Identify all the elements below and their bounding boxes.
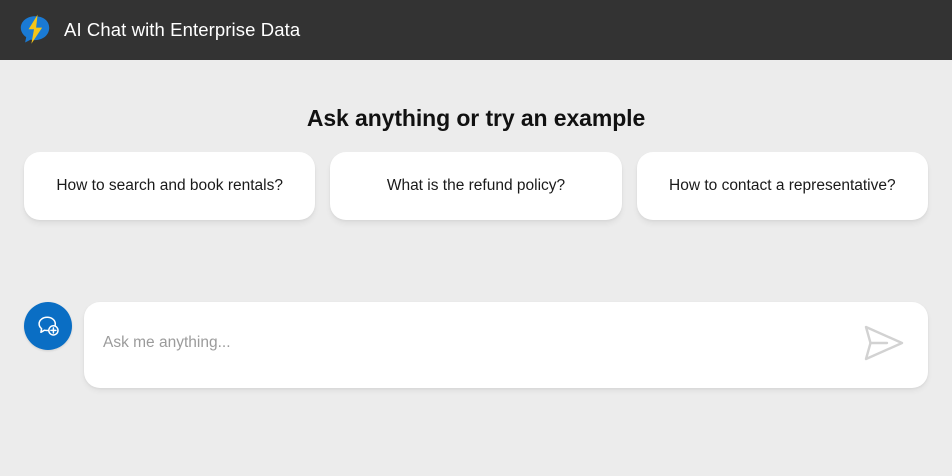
chat-input[interactable]: [84, 302, 928, 362]
main-content: Ask anything or try an example How to se…: [0, 60, 952, 476]
new-chat-button[interactable]: [24, 302, 72, 350]
example-prompt-list: How to search and book rentals? What is …: [24, 152, 928, 220]
app-title: AI Chat with Enterprise Data: [64, 19, 300, 41]
example-prompt-label: What is the refund policy?: [387, 176, 565, 195]
chat-composer: [24, 302, 928, 388]
send-paper-plane-icon: [861, 323, 907, 363]
example-prompt-label: How to contact a representative?: [669, 176, 896, 195]
page-title: Ask anything or try an example: [0, 105, 952, 132]
example-prompt-card[interactable]: How to search and book rentals?: [24, 152, 315, 220]
example-prompt-label: How to search and book rentals?: [56, 176, 283, 195]
new-chat-bubble-plus-icon: [35, 313, 61, 339]
example-prompt-card[interactable]: What is the refund policy?: [330, 152, 621, 220]
chat-bolt-logo-icon: [18, 13, 52, 47]
example-prompt-card[interactable]: How to contact a representative?: [637, 152, 928, 220]
app-header: AI Chat with Enterprise Data: [0, 0, 952, 60]
send-button[interactable]: [860, 322, 908, 364]
chat-input-container: [84, 302, 928, 388]
